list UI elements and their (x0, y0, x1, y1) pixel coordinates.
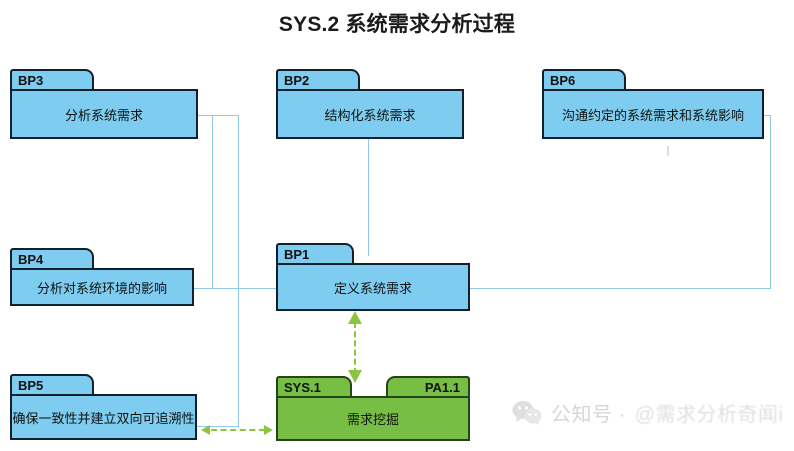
node-bp3-body: 分析系统需求 (10, 89, 198, 139)
node-bp5-tab-label: BP5 (12, 379, 43, 392)
node-bp4-body: 分析对系统环境的影响 (10, 268, 194, 306)
wechat-icon (512, 400, 542, 426)
node-bp2-tab-label: BP2 (278, 74, 309, 87)
node-sys1-body: 需求挖掘 (276, 396, 470, 441)
wire-bp3-out (197, 115, 239, 116)
artifact-speck (667, 146, 669, 156)
node-bp2-body: 结构化系统需求 (276, 89, 464, 139)
watermark: 公知号 · @需求分析奇闻i (512, 398, 783, 427)
node-bp4-label: 分析对系统环境的影响 (37, 278, 167, 297)
node-bp4-tab: BP4 (10, 248, 94, 268)
node-bp1-body: 定义系统需求 (276, 263, 470, 311)
node-bp6-label: 沟通约定的系统需求和系统影响 (562, 105, 744, 124)
dashed-line-bp1-sys1 (354, 322, 356, 374)
node-bp3-label: 分析系统需求 (65, 105, 143, 124)
wire-bp4-to-bp1 (193, 288, 276, 289)
node-bp2-tab: BP2 (276, 69, 360, 89)
arrowhead-right-sys1 (264, 425, 273, 435)
node-bp4-tab-label: BP4 (12, 253, 43, 266)
node-bp1-label: 定义系统需求 (334, 278, 412, 297)
node-bp1-tab: BP1 (276, 243, 354, 263)
node-sys1-label: 需求挖掘 (347, 409, 399, 428)
wire-bp1-to-bp6-h (470, 288, 771, 289)
node-sys1-tab-right: PA1.1 (386, 376, 470, 396)
arrowhead-left-bp5 (201, 425, 210, 435)
watermark-prefix: 公知号 · (551, 398, 626, 427)
node-bp5-body: 确保一致性并建立双向可追溯性 (10, 394, 197, 440)
diagram-canvas: SYS.2 系统需求分析过程 BP3 分析系统需求 BP2 结构化系统需求 BP (0, 0, 794, 451)
node-bp6-tab-label: BP6 (544, 74, 575, 87)
node-bp3-tab-label: BP3 (12, 74, 43, 87)
page-title: SYS.2 系统需求分析过程 (0, 8, 794, 38)
node-bp1-tab-label: BP1 (278, 248, 309, 261)
node-bp6-body: 沟通约定的系统需求和系统影响 (542, 89, 764, 139)
node-pa11-tab-label: PA1.1 (425, 381, 468, 394)
node-bp2-label: 结构化系统需求 (324, 105, 415, 124)
node-bp5-label: 确保一致性并建立双向可追溯性 (12, 408, 194, 427)
wire-bp1-to-bp6-v (770, 115, 771, 289)
wire-junction-vertical (212, 115, 213, 289)
node-sys1-tab-left: SYS.1 (276, 376, 352, 396)
wire-bp3-down (238, 115, 239, 426)
arrowhead-up-bp1 (348, 311, 362, 324)
node-bp5-tab: BP5 (10, 374, 94, 394)
watermark-handle: @需求分析奇闻i (635, 398, 784, 427)
node-bp3-tab: BP3 (10, 69, 94, 89)
arrowhead-down-sys1 (348, 370, 362, 383)
node-sys1-tab-label: SYS.1 (278, 381, 321, 394)
dashed-line-bp5-sys1 (211, 429, 265, 431)
wire-bp2-to-bp1 (368, 139, 369, 256)
node-bp6-tab: BP6 (542, 69, 626, 89)
